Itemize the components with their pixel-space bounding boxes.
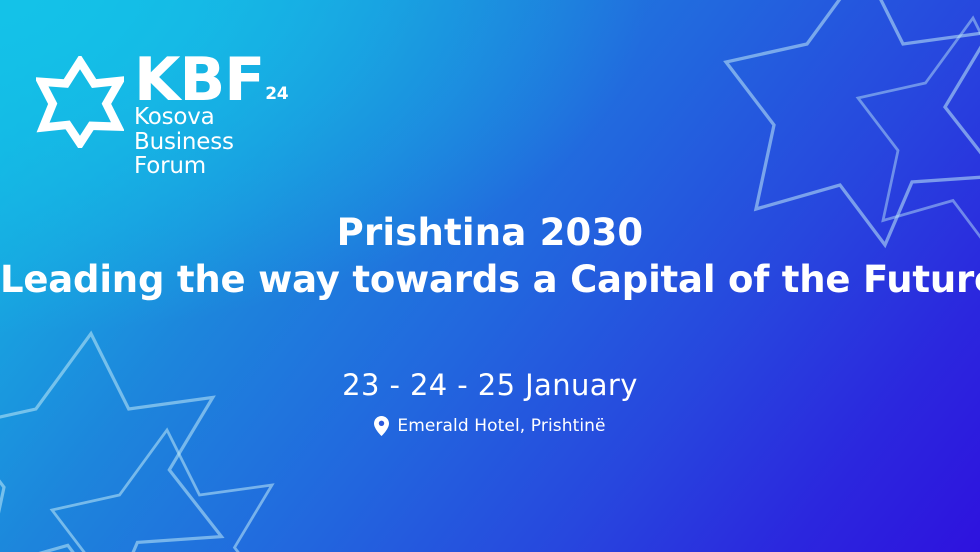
logo-wordmark: KBF 24 Kosova Business Forum (134, 52, 288, 179)
logo-name-line-2: Business (134, 130, 288, 155)
page-title: Prishtina 2030 (0, 212, 980, 253)
logo-year: 24 (265, 88, 288, 102)
poster-content: Prishtina 2030 Leading the way towards a… (0, 212, 980, 436)
venue-row: Emerald Hotel, Prishtinë (0, 416, 980, 436)
logo-name-line-1: Kosova (134, 105, 288, 130)
six-point-star-outline-icon (36, 56, 124, 148)
logo-acronym-row: KBF 24 (134, 56, 288, 105)
logo-acronym: KBF (134, 56, 264, 105)
event-date: 23 - 24 - 25 January (0, 368, 980, 402)
logo-full-name: Kosova Business Forum (134, 105, 288, 179)
page-subtitle: Leading the way towards a Capital of the… (0, 259, 980, 300)
kbf-logo: KBF 24 Kosova Business Forum (36, 52, 288, 179)
location-pin-icon (374, 416, 389, 436)
decorative-star-outline-bottom-left-small (42, 420, 292, 552)
logo-name-line-3: Forum (134, 154, 288, 179)
event-poster: KBF 24 Kosova Business Forum Prishtina 2… (0, 0, 980, 552)
venue-label: Emerald Hotel, Prishtinë (397, 416, 605, 436)
